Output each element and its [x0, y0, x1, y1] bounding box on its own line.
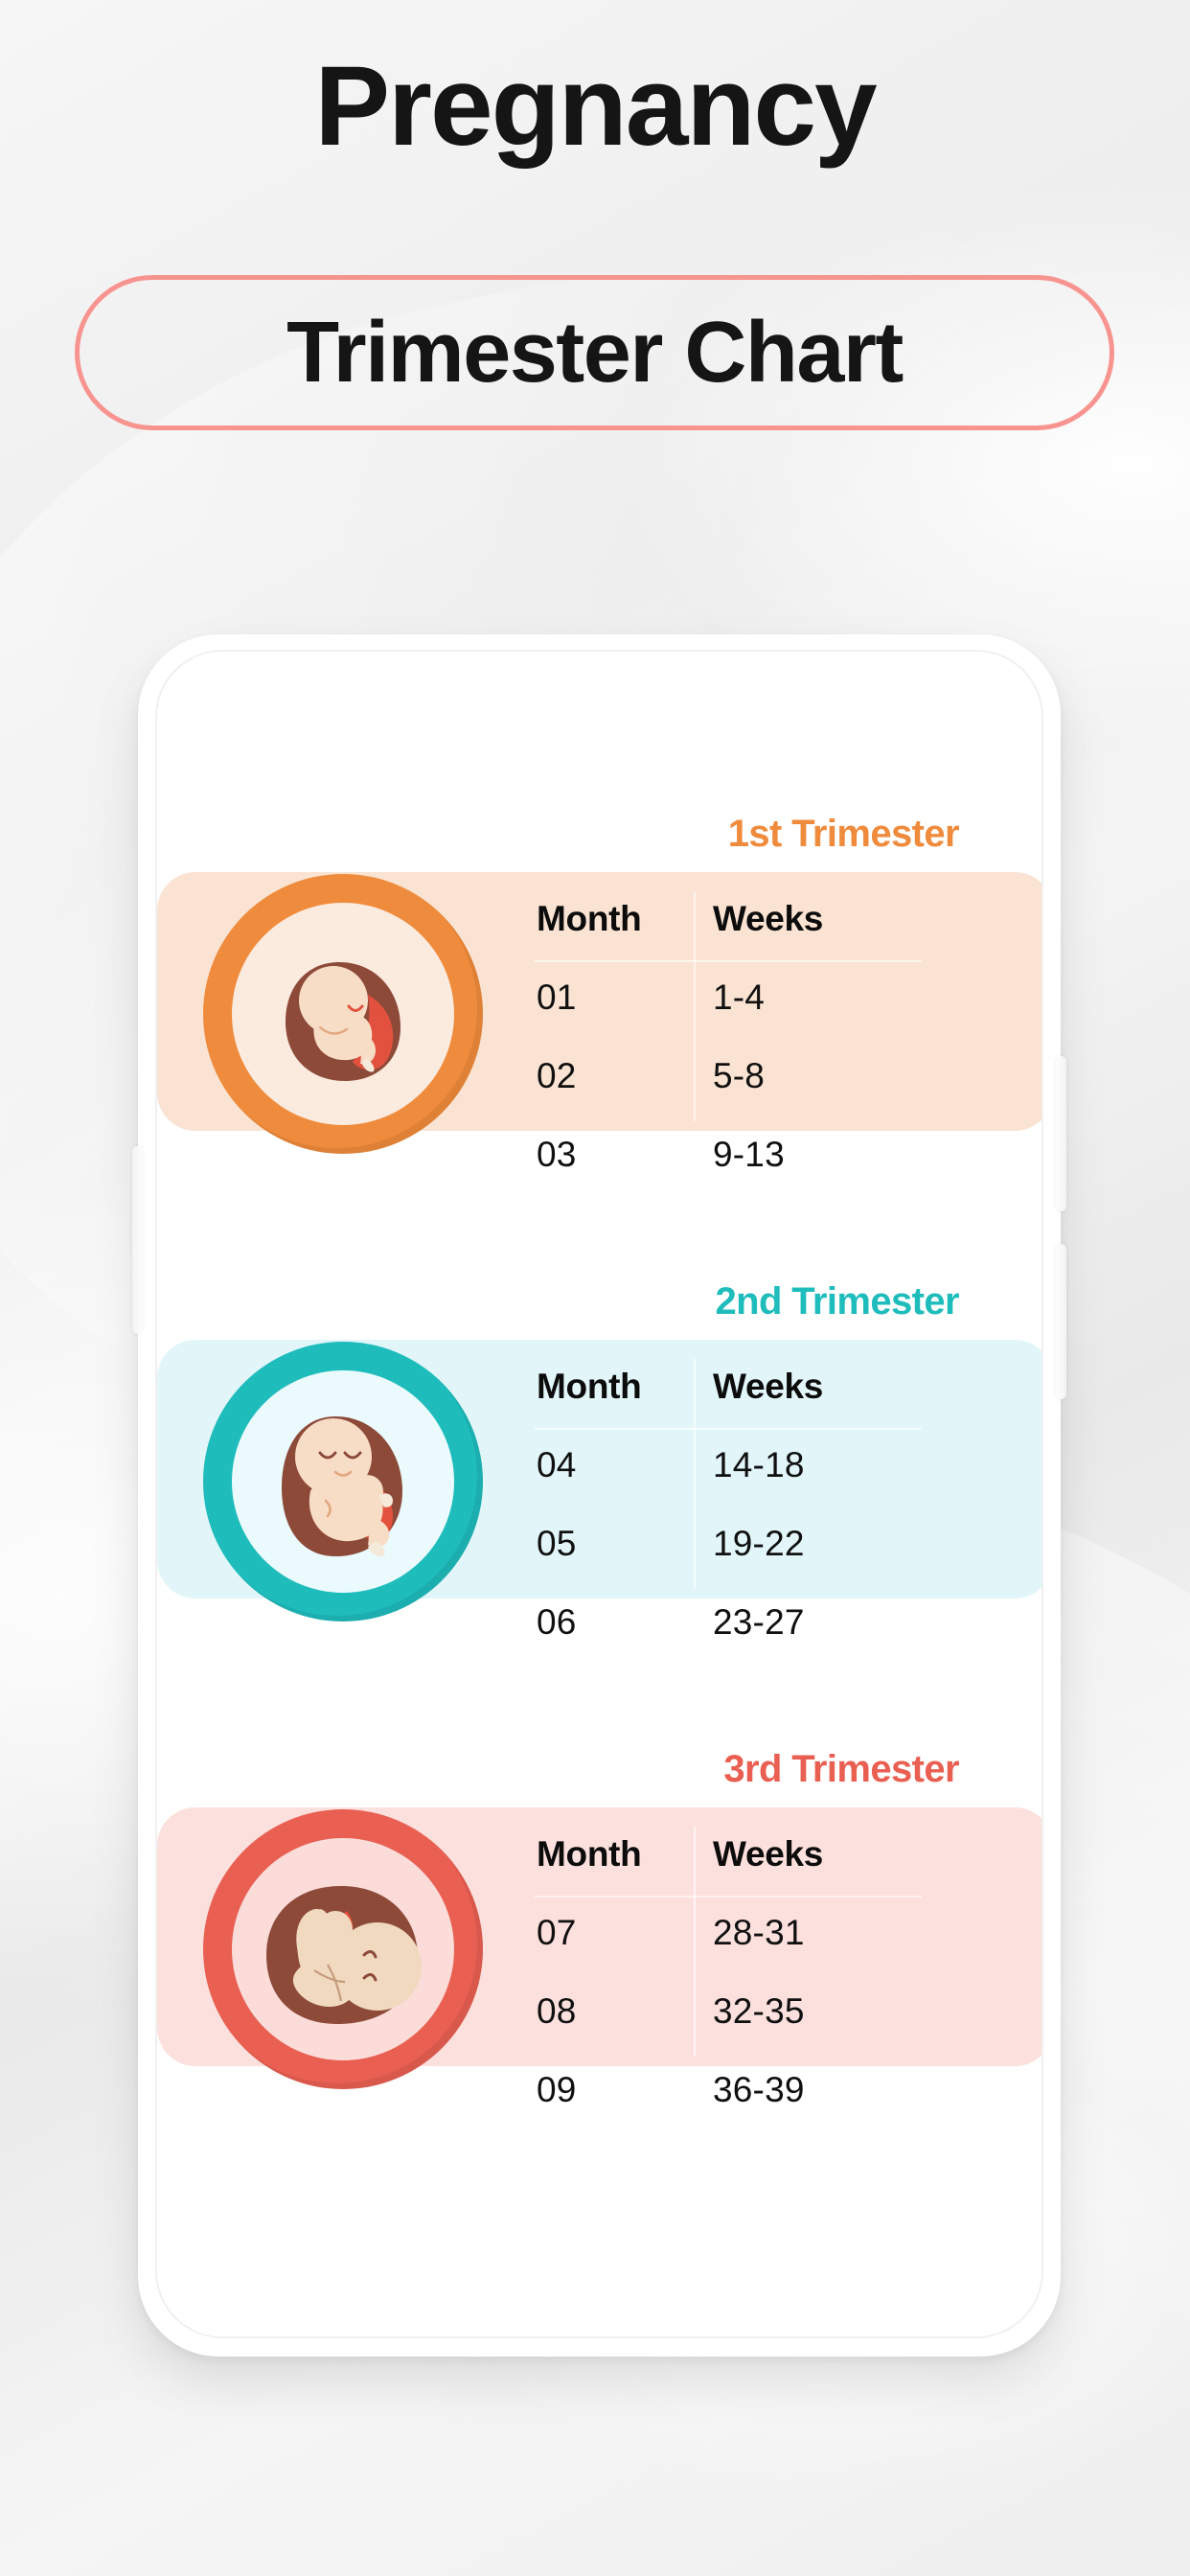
header-divider [535, 960, 922, 962]
subtitle-pill: Trimester Chart [75, 275, 1114, 430]
subtitle-text: Trimester Chart [286, 304, 903, 402]
phone-mockup: 1st Trimester Month Weeks 01 1-4 [138, 634, 1061, 2357]
cell-month: 01 [537, 977, 577, 1018]
trimester-2-table: Month Weeks 04 14-18 05 19-22 06 [527, 1340, 1041, 1598]
table-row: 07 28-31 [527, 1913, 1041, 1959]
page-title: Pregnancy [0, 46, 1190, 168]
header-divider [535, 1428, 922, 1430]
cell-month: 06 [537, 1602, 577, 1643]
table-header-row: Month Weeks [527, 899, 1041, 956]
table-row: 02 5-8 [527, 1056, 1041, 1102]
table-row: 01 1-4 [527, 977, 1041, 1023]
cell-month: 04 [537, 1445, 577, 1485]
column-header-weeks: Weeks [713, 1367, 823, 1407]
embryo-icon [203, 874, 483, 1154]
fetus-icon [203, 1342, 483, 1621]
header-divider [535, 1896, 922, 1897]
phone-volume-down-button[interactable] [1056, 1244, 1066, 1399]
trimester-1-table: Month Weeks 01 1-4 02 5-8 03 [527, 872, 1041, 1131]
table-row: 05 19-22 [527, 1524, 1041, 1570]
trimester-3-panel: Month Weeks 07 28-31 08 32-35 09 [157, 1807, 1041, 2066]
table-row: 04 14-18 [527, 1445, 1041, 1491]
table-header-row: Month Weeks [527, 1834, 1041, 1892]
cell-weeks: 36-39 [713, 2070, 805, 2110]
cell-month: 09 [537, 2070, 577, 2110]
phone-screen: 1st Trimester Month Weeks 01 1-4 [157, 652, 1041, 2336]
trimester-2-panel: Month Weeks 04 14-18 05 19-22 06 [157, 1340, 1041, 1598]
phone-bezel: 1st Trimester Month Weeks 01 1-4 [157, 652, 1041, 2336]
cell-weeks: 1-4 [713, 977, 765, 1018]
cell-weeks: 28-31 [713, 1913, 805, 1953]
cell-month: 02 [537, 1056, 577, 1096]
table-header-row: Month Weeks [527, 1367, 1041, 1424]
cell-weeks: 19-22 [713, 1524, 805, 1564]
trimester-3-table: Month Weeks 07 28-31 08 32-35 09 [527, 1807, 1041, 2066]
baby-icon [203, 1809, 483, 2089]
column-header-month: Month [537, 1367, 641, 1407]
table-row: 08 32-35 [527, 1991, 1041, 2037]
cell-weeks: 32-35 [713, 1991, 805, 2032]
cell-month: 05 [537, 1524, 577, 1564]
cell-weeks: 14-18 [713, 1445, 805, 1485]
cell-month: 03 [537, 1135, 577, 1175]
table-row: 03 9-13 [527, 1135, 1041, 1181]
cell-weeks: 9-13 [713, 1135, 785, 1175]
cell-weeks: 5-8 [713, 1056, 765, 1096]
cell-month: 07 [537, 1913, 577, 1953]
cell-month: 08 [537, 1991, 577, 2032]
table-row: 09 36-39 [527, 2070, 1041, 2116]
trimester-2-heading: 2nd Trimester [715, 1280, 959, 1323]
trimester-1-heading: 1st Trimester [728, 813, 959, 856]
column-header-weeks: Weeks [713, 899, 823, 939]
trimester-3-heading: 3rd Trimester [723, 1748, 959, 1791]
column-header-month: Month [537, 1834, 641, 1874]
phone-power-button[interactable] [132, 1146, 143, 1334]
cell-weeks: 23-27 [713, 1602, 805, 1643]
column-header-weeks: Weeks [713, 1834, 823, 1874]
table-row: 06 23-27 [527, 1602, 1041, 1648]
trimester-1-panel: Month Weeks 01 1-4 02 5-8 03 [157, 872, 1041, 1131]
phone-volume-up-button[interactable] [1056, 1056, 1066, 1211]
column-header-month: Month [537, 899, 641, 939]
